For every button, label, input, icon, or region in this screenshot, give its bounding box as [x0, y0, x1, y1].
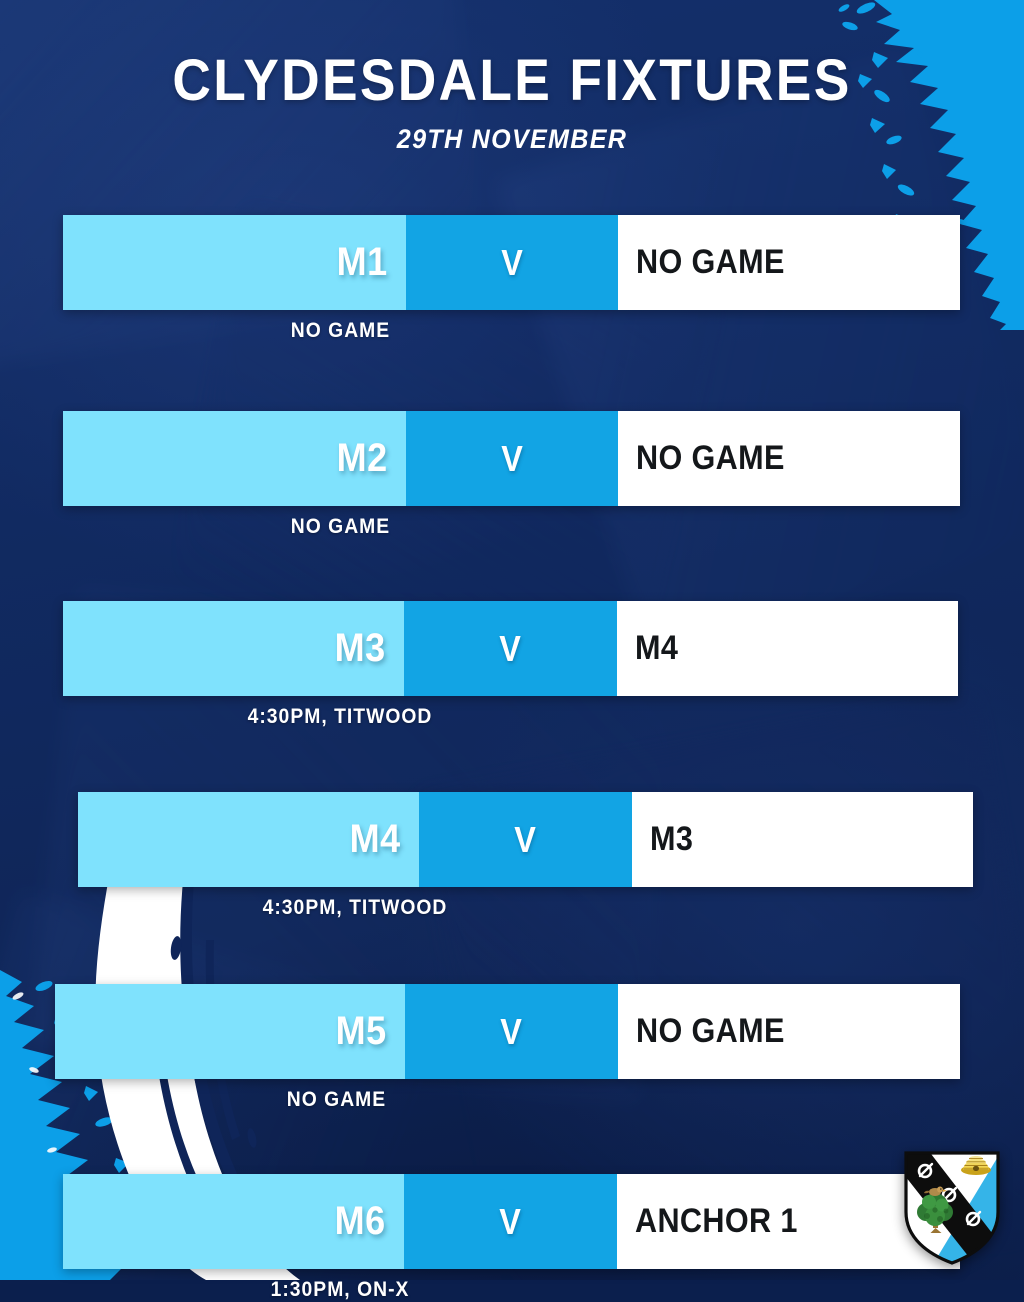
- home-team-label: M5: [336, 1009, 387, 1054]
- page-subtitle-date: 29TH NOVEMBER: [36, 126, 988, 153]
- versus-cell: V: [405, 984, 618, 1079]
- page-title: CLYDESDALE FIXTURES: [41, 52, 983, 110]
- home-team-cell: M6: [63, 1174, 404, 1269]
- versus-label: V: [500, 628, 522, 670]
- versus-label: V: [501, 438, 523, 480]
- home-team-label: M3: [335, 626, 386, 671]
- versus-cell: V: [404, 601, 617, 696]
- fixture-row: M1VNO GAMENO GAME: [63, 215, 960, 343]
- versus-label: V: [501, 242, 523, 284]
- home-team-cell: M3: [63, 601, 404, 696]
- fixture-row: M3VM44:30PM, TITWOOD: [63, 601, 958, 729]
- fixture-bar: M2VNO GAME: [63, 411, 960, 506]
- away-team-label: M3: [650, 820, 693, 859]
- home-team-cell: M1: [63, 215, 406, 310]
- versus-cell: V: [404, 1174, 617, 1269]
- fixture-row: M5VNO GAMENO GAME: [55, 984, 960, 1112]
- away-team-label: M4: [635, 629, 678, 668]
- home-team-cell: M5: [55, 984, 405, 1079]
- fixture-caption: 4:30PM, TITWOOD: [85, 705, 595, 729]
- away-team-label: NO GAME: [636, 1012, 785, 1051]
- away-team-cell: NO GAME: [618, 411, 960, 506]
- versus-label: V: [501, 1011, 523, 1053]
- versus-cell: V: [406, 215, 618, 310]
- versus-cell: V: [419, 792, 632, 887]
- versus-cell: V: [406, 411, 618, 506]
- away-team-cell: M4: [617, 601, 958, 696]
- home-team-cell: M4: [78, 792, 419, 887]
- fixture-bar: M5VNO GAME: [55, 984, 960, 1079]
- versus-label: V: [500, 1201, 522, 1243]
- club-crest-icon: [902, 1150, 1002, 1266]
- fixture-bar: M6VANCHOR 1: [63, 1174, 960, 1269]
- home-team-label: M2: [337, 436, 388, 481]
- versus-label: V: [515, 819, 537, 861]
- fixture-caption: NO GAME: [78, 1088, 596, 1112]
- away-team-label: NO GAME: [636, 439, 785, 478]
- fixture-caption: 4:30PM, TITWOOD: [100, 896, 610, 920]
- home-team-label: M4: [350, 817, 401, 862]
- fixtures-list: M1VNO GAMENO GAMEM2VNO GAMENO GAMEM3VM44…: [0, 215, 1024, 1302]
- fixture-bar: M1VNO GAME: [63, 215, 960, 310]
- home-team-cell: M2: [63, 411, 406, 506]
- header: CLYDESDALE FIXTURES 29TH NOVEMBER: [0, 52, 1024, 153]
- away-team-label: NO GAME: [636, 243, 785, 282]
- away-team-cell: M3: [632, 792, 973, 887]
- away-team-cell: NO GAME: [618, 215, 960, 310]
- home-team-label: M6: [335, 1199, 386, 1244]
- fixture-row: M2VNO GAMENO GAME: [63, 411, 960, 539]
- away-team-label: ANCHOR 1: [635, 1202, 798, 1241]
- fixture-caption: NO GAME: [85, 515, 596, 539]
- fixture-caption: 1:30PM, ON-X: [85, 1278, 595, 1302]
- fixture-caption: NO GAME: [85, 319, 596, 343]
- fixture-bar: M3VM4: [63, 601, 958, 696]
- home-team-label: M1: [337, 240, 388, 285]
- fixture-row: M4VM34:30PM, TITWOOD: [78, 792, 973, 920]
- fixture-bar: M4VM3: [78, 792, 973, 887]
- fixture-row: M6VANCHOR 11:30PM, ON-X: [63, 1174, 960, 1302]
- away-team-cell: NO GAME: [618, 984, 960, 1079]
